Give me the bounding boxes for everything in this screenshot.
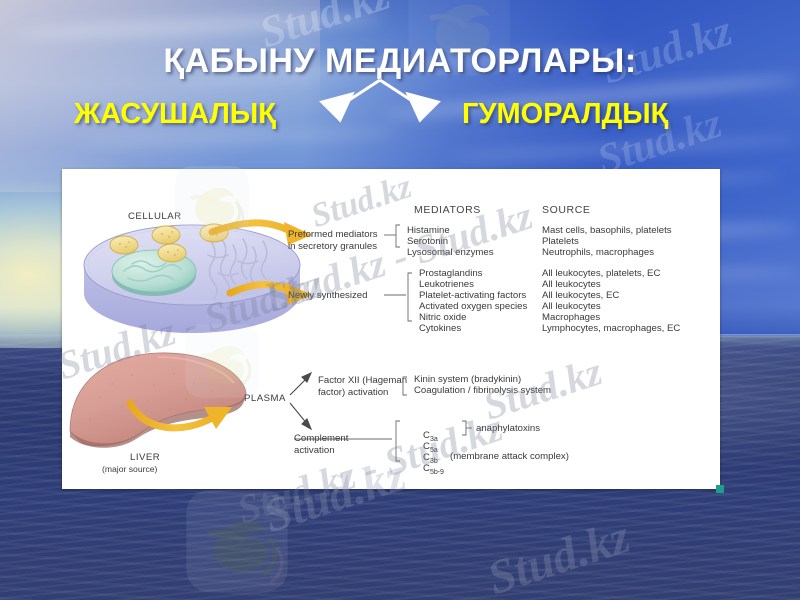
title-branch-cellular: ЖАСУШАЛЫҚ — [74, 98, 276, 131]
group-name-preformed: Preformed mediators in secretory granule… — [288, 229, 378, 252]
plasma-item-kinin-system: Kinin system (bradykinin) — [414, 374, 521, 386]
liver-illustration — [70, 353, 246, 448]
resize-handle[interactable] — [716, 485, 724, 493]
complement-c5b9-base: C — [423, 463, 430, 474]
mediator-leukotrienes: Leukotrienes — [419, 279, 474, 291]
mediator-serotonin: Serotonin — [407, 236, 448, 248]
group-name-complement-activation: Complement activation — [294, 433, 348, 456]
arrow-right-head — [408, 94, 438, 120]
arrow-left-head — [322, 94, 352, 120]
source-platelet-activating-factors: All leukocytes, EC — [542, 290, 619, 302]
mediator-activated-oxygen-species: Activated oxygen species — [419, 301, 527, 313]
presentation-slide: ҚАБЫНУ МЕДИАТОРЛАРЫ: ЖАСУШАЛЫҚ ГУМОРАЛДЫ… — [0, 0, 800, 600]
label-liver-sublabel: (major source) — [102, 464, 157, 474]
group-name-factor-xii: Factor XII (Hageman factor) activation — [318, 375, 407, 398]
source-lysosomal-enzymes: Neutrophils, macrophages — [542, 247, 654, 259]
header-mediators: MEDIATORS — [414, 204, 481, 216]
source-activated-oxygen-species: All leukocytes — [542, 301, 601, 313]
mediator-platelet-activating-factors: Platelet-activating factors — [419, 290, 526, 302]
group-name-newly-synthesized: Newly synthesized — [288, 290, 367, 302]
title-branch-humoral: ГУМОРАЛДЫҚ — [462, 98, 668, 131]
source-nitric-oxide: Macrophages — [542, 312, 600, 324]
group-brackets — [294, 225, 472, 461]
plasma-item-coagulation-fibrinolysis: Coagulation / fibrinolysis system — [414, 385, 551, 397]
label-cellular: CELLULAR — [128, 211, 182, 222]
label-membrane-attack-complex: (membrane attack complex) — [450, 451, 569, 463]
mediator-prostaglandins: Prostaglandins — [419, 268, 482, 280]
label-liver: LIVER — [130, 452, 160, 463]
cell-illustration — [84, 222, 312, 333]
branch-arrows — [300, 72, 460, 132]
mediator-lysosomal-enzymes: Lysosomal enzymes — [407, 247, 494, 259]
source-cytokines: Lymphocytes, macrophages, EC — [542, 323, 680, 335]
label-plasma: PLASMA — [244, 393, 286, 404]
header-source: SOURCE — [542, 204, 591, 216]
source-prostaglandins: All leukocytes, platelets, EC — [542, 268, 660, 280]
complement-c5b9-sub: 5b-9 — [430, 469, 444, 476]
source-serotonin: Platelets — [542, 236, 579, 248]
mediator-cytokines: Cytokines — [419, 323, 461, 335]
source-leukotrienes: All leukocytes — [542, 279, 601, 291]
diagram-panel: CELLULAR MEDIATORS SOURCE Preformed medi… — [62, 169, 720, 489]
mediator-nitric-oxide: Nitric oxide — [419, 312, 466, 324]
plasma-branch-arrows — [290, 373, 311, 429]
mediator-histamine: Histamine — [407, 225, 450, 237]
complement-c5b9: C5b-9 — [407, 451, 444, 490]
label-anaphylatoxins: anaphylatoxins — [476, 423, 540, 435]
source-histamine: Mast cells, basophils, platelets — [542, 225, 672, 237]
